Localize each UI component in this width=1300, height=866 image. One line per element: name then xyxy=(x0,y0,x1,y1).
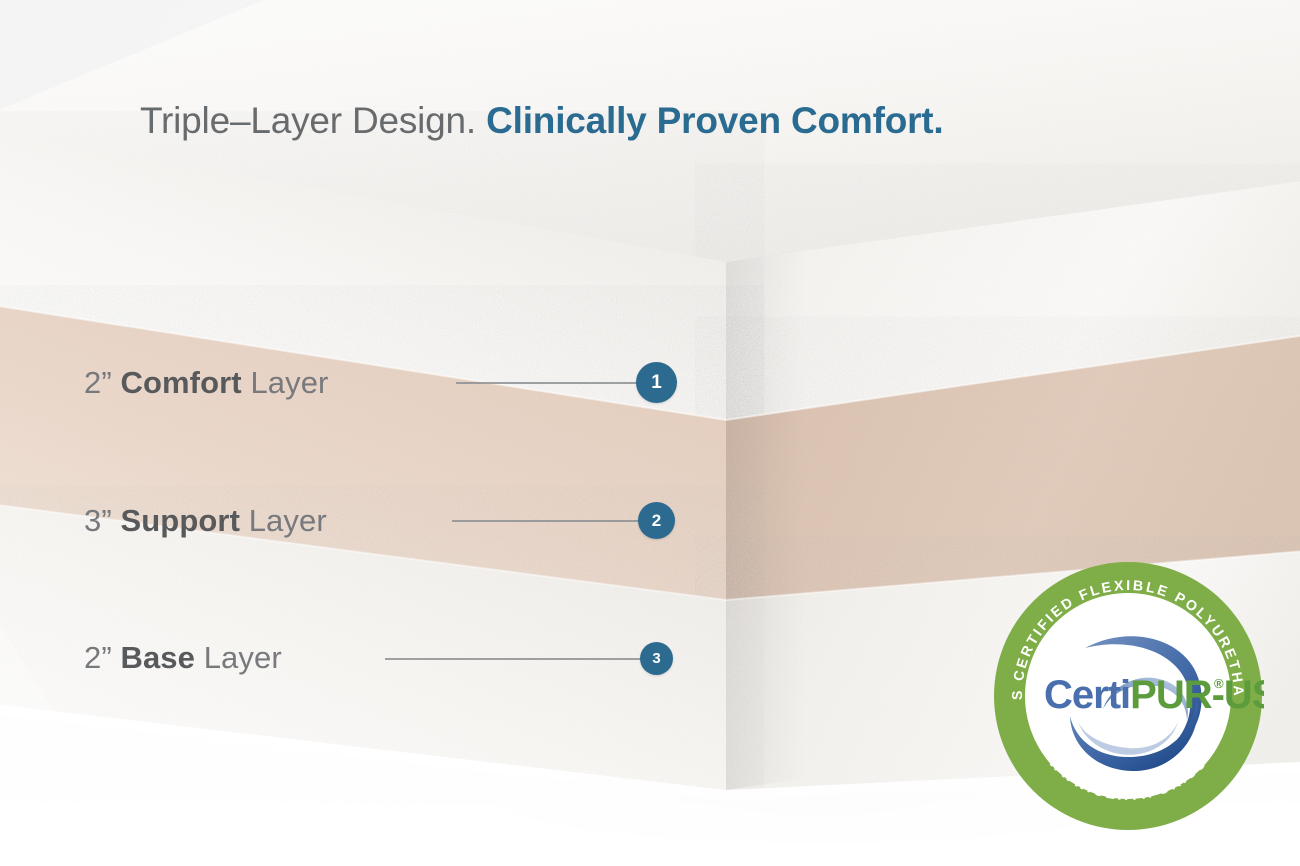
callout-1-name: Comfort xyxy=(120,365,241,400)
badge-layer-2[interactable]: 2 xyxy=(638,502,675,539)
callout-3-suffix: Layer xyxy=(204,640,282,675)
callout-2-text: 3” Support Layer xyxy=(84,503,327,539)
badge-layer-3[interactable]: 3 xyxy=(640,642,673,675)
callout-2-thickness: 3” xyxy=(84,503,112,538)
registered-trademark-icon: ® xyxy=(1214,676,1224,691)
certipur-us-seal: CONTAINS CERTIFIED FLEXIBLE POLYURETHANE… xyxy=(992,560,1264,832)
infographic-canvas: Triple–Layer Design. Clinically Proven C… xyxy=(0,0,1300,866)
svg-text:CertiPUR-US: CertiPUR-US xyxy=(1044,673,1264,717)
callout-3-text: 2” Base Layer xyxy=(84,640,282,676)
callout-3-name: Base xyxy=(120,640,195,675)
leader-line-2 xyxy=(452,520,644,522)
callout-3-thickness: 2” xyxy=(84,640,112,675)
callout-2-name: Support xyxy=(120,503,240,538)
seal-brand-wordmark: CertiPUR-US ® xyxy=(1044,673,1264,717)
callout-layer-1: 2” Comfort Layer xyxy=(84,363,328,403)
callout-1-thickness: 2” xyxy=(84,365,112,400)
leader-line-1 xyxy=(456,382,644,384)
headline-part-blue: Clinically Proven Comfort. xyxy=(486,100,943,141)
certipur-seal-graphic: CONTAINS CERTIFIED FLEXIBLE POLYURETHANE… xyxy=(992,560,1264,832)
badge-layer-1[interactable]: 1 xyxy=(636,362,677,403)
callout-1-suffix: Layer xyxy=(250,365,328,400)
callout-layer-3: 2” Base Layer xyxy=(84,638,282,678)
headline-part-grey: Triple–Layer Design. xyxy=(140,100,476,141)
callout-layer-2: 3” Support Layer xyxy=(84,501,327,541)
leader-line-3 xyxy=(385,658,643,660)
callout-2-suffix: Layer xyxy=(249,503,327,538)
page-headline: Triple–Layer Design. Clinically Proven C… xyxy=(140,98,1200,144)
callout-1-text: 2” Comfort Layer xyxy=(84,365,328,401)
